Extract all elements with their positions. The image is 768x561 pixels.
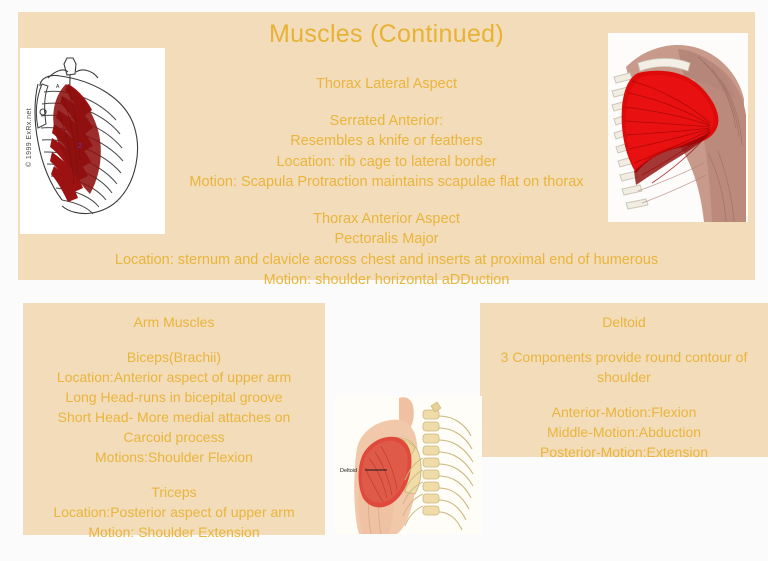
deltoid-panel: Deltoid 3 Components provide round conto…	[480, 303, 768, 457]
triceps-title: Triceps	[23, 482, 325, 502]
biceps-line-3: Carcoid process	[23, 427, 325, 447]
arm-muscles-heading: Arm Muscles	[23, 312, 325, 332]
triceps-line-0: Location:Posterior aspect of upper arm	[23, 502, 325, 522]
deltoid-description: 3 Components provide round contour of sh…	[480, 347, 768, 387]
deltoid-motion-0: Anterior-Motion:Flexion	[480, 402, 768, 422]
deltoid-motion-1: Middle-Motion:Abduction	[480, 422, 768, 442]
deltoid-heading: Deltoid	[480, 312, 768, 332]
image-watermark: © 1999 ExRx.net	[26, 108, 33, 167]
pectoralis-line-1: Location: sternum and clavicle across ch…	[18, 250, 755, 271]
slide: Muscles (Continued) Thorax Lateral Aspec…	[0, 0, 768, 561]
biceps-line-1: Long Head-runs in bicepital groove	[23, 387, 325, 407]
deltoid-posterior-illustration: Deltoid	[335, 396, 482, 534]
biceps-title: Biceps(Brachii)	[23, 347, 325, 367]
svg-text:2: 2	[78, 143, 82, 150]
biceps-line-4: Motions:Shoulder Flexion	[23, 447, 325, 467]
biceps-line-2: Short Head- More medial attaches on	[23, 407, 325, 427]
serratus-anterior-ribcage-illustration: 2 A o	[20, 48, 165, 234]
deltoid-text: Deltoid 3 Components provide round conto…	[480, 303, 768, 462]
deltoid-image-label: Deltoid	[340, 468, 357, 474]
serratus-anterior-image-card: 2 A o © 1999 ExRx.net	[20, 48, 165, 234]
biceps-line-0: Location:Anterior aspect of upper arm	[23, 367, 325, 387]
svg-text:o: o	[44, 109, 47, 115]
arm-muscles-text: Arm Muscles Biceps(Brachii) Location:Ant…	[23, 303, 325, 542]
pectoralis-line-2: Motion: shoulder horizontal aDDuction	[18, 270, 755, 291]
deltoid-image-card: Deltoid	[335, 396, 482, 534]
arm-muscles-panel: Arm Muscles Biceps(Brachii) Location:Ant…	[23, 303, 325, 535]
pectoralis-major-illustration	[608, 33, 748, 222]
deltoid-motion-2: Posterior-Motion:Extension	[480, 442, 768, 462]
triceps-line-1: Motion: Shoulder Extension	[23, 522, 325, 542]
pectoralis-major-image-card	[608, 33, 748, 222]
